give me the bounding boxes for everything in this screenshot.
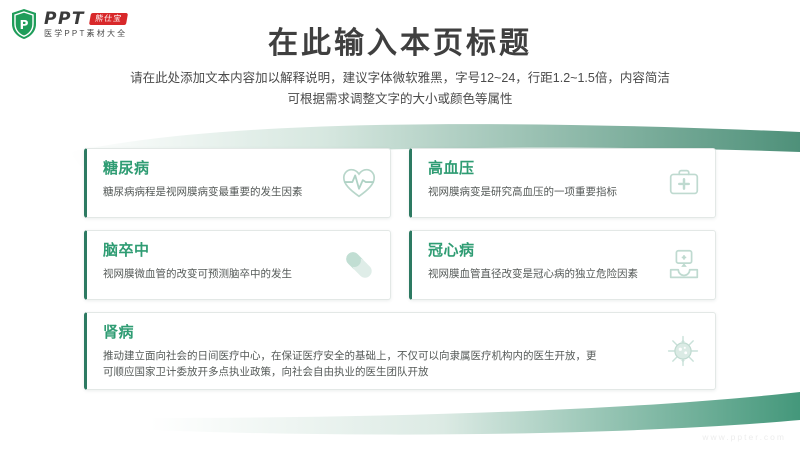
card-description: 视网膜血管直径改变是冠心病的独立危险因素 <box>428 266 673 282</box>
card-title: 糖尿病 <box>103 161 376 178</box>
card-title: 脑卒中 <box>103 243 376 260</box>
card-description-line-1: 推动建立面向社会的日间医疗中心，在保证医疗安全的基础上，不仅可以向隶属医疗机构内… <box>103 348 663 364</box>
virus-cell-icon <box>665 333 701 369</box>
card-description: 推动建立面向社会的日间医疗中心，在保证医疗安全的基础上，不仅可以向隶属医疗机构内… <box>103 348 663 381</box>
card-title: 冠心病 <box>428 243 701 260</box>
first-aid-kit-icon <box>665 164 703 202</box>
card-title: 高血压 <box>428 161 701 178</box>
card-kidney-disease[interactable]: 肾病 推动建立面向社会的日间医疗中心，在保证医疗安全的基础上，不仅可以向隶属医疗… <box>84 312 716 390</box>
card-coronary-heart-disease[interactable]: 冠心病 视网膜血管直径改变是冠心病的独立危险因素 <box>409 230 716 300</box>
subtitle-line-1: 请在此处添加文本内容加以解释说明，建议字体微软雅黑，字号12~24，行距1.2~… <box>0 68 800 89</box>
card-row-2: 脑卒中 视网膜微血管的改变可预测脑卒中的发生 冠心病 视网膜血管直径改变是冠心病… <box>84 230 716 300</box>
card-title: 肾病 <box>103 325 701 342</box>
capsule-pill-icon <box>340 246 378 284</box>
card-description: 视网膜微血管的改变可预测脑卒中的发生 <box>103 266 348 282</box>
card-description-line-2: 可顺应国家卫计委放开多点执业政策，向社会自由执业的医生团队开放 <box>103 364 663 380</box>
site-watermark: www.ppter.com <box>702 432 786 442</box>
heartbeat-icon <box>340 164 378 202</box>
page-subtitle: 请在此处添加文本内容加以解释说明，建议字体微软雅黑，字号12~24，行距1.2~… <box>0 68 800 109</box>
card-stroke[interactable]: 脑卒中 视网膜微血管的改变可预测脑卒中的发生 <box>84 230 391 300</box>
card-hypertension[interactable]: 高血压 视网膜病变是研究高血压的一项重要指标 <box>409 148 716 218</box>
subtitle-line-2: 可根据需求调整文字的大小或颜色等属性 <box>0 89 800 110</box>
card-diabetes[interactable]: 糖尿病 糖尿病病程是视网膜病变最重要的发生因素 <box>84 148 391 218</box>
page-title: 在此输入本页标题 <box>0 18 800 62</box>
card-description: 糖尿病病程是视网膜病变最重要的发生因素 <box>103 184 348 200</box>
card-grid: 糖尿病 糖尿病病程是视网膜病变最重要的发生因素 高血压 视网膜病变是研究高血压的… <box>84 148 716 402</box>
card-row-3: 肾病 推动建立面向社会的日间医疗中心，在保证医疗安全的基础上，不仅可以向隶属医疗… <box>84 312 716 390</box>
card-row-1: 糖尿病 糖尿病病程是视网膜病变最重要的发生因素 高血压 视网膜病变是研究高血压的… <box>84 148 716 218</box>
hospital-sign-icon <box>665 246 703 284</box>
card-description: 视网膜病变是研究高血压的一项重要指标 <box>428 184 673 200</box>
